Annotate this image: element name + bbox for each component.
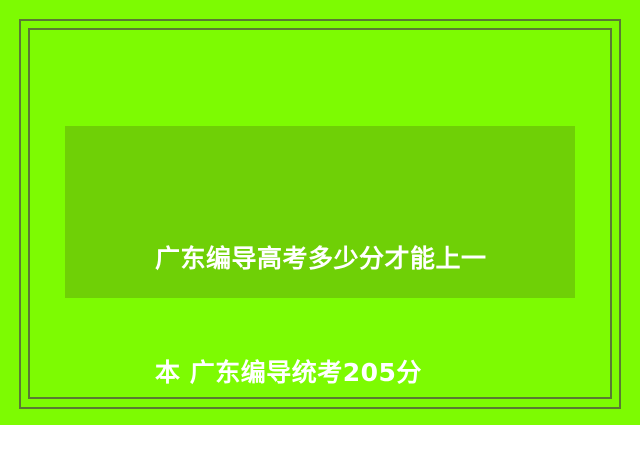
headline-line-2: 本 广东编导统考205分 (155, 354, 555, 392)
poster-canvas: 广东编导高考多少分才能上一 本 广东编导统考205分 (0, 0, 640, 425)
headline-line-1: 广东编导高考多少分才能上一 (155, 240, 555, 278)
headline-text: 广东编导高考多少分才能上一 本 广东编导统考205分 (155, 164, 555, 468)
content-panel: 广东编导高考多少分才能上一 本 广东编导统考205分 (65, 126, 575, 298)
